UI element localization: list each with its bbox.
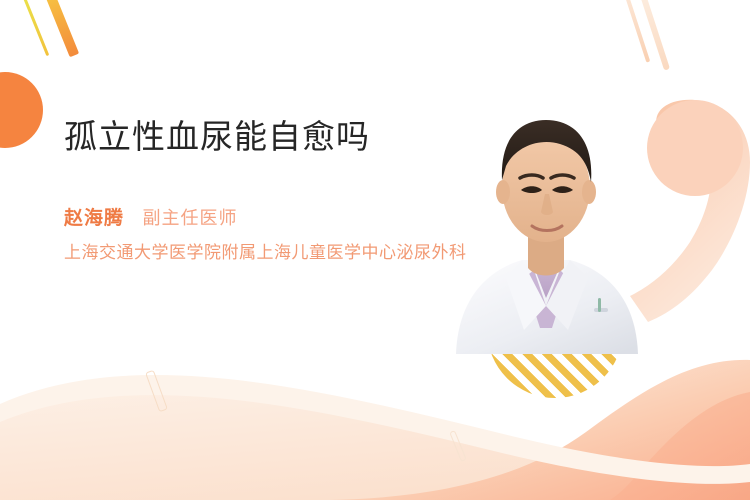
doctor-affiliation: 上海交通大学医学院附属上海儿童医学中心泌尿外科 [64,241,484,265]
page-title: 孤立性血尿能自愈吗 [64,116,484,157]
text-block: 孤立性血尿能自愈吗 赵海腾 副主任医师 上海交通大学医学院附属上海儿童医学中心泌… [64,116,484,265]
doctor-role: 副主任医师 [142,208,237,229]
doctor-line: 赵海腾 副主任医师 [64,203,484,230]
video-cover-card: 孤立性血尿能自愈吗 赵海腾 副主任医师 上海交通大学医学院附属上海儿童医学中心泌… [0,0,750,500]
doctor-name: 赵海腾 [64,207,124,229]
